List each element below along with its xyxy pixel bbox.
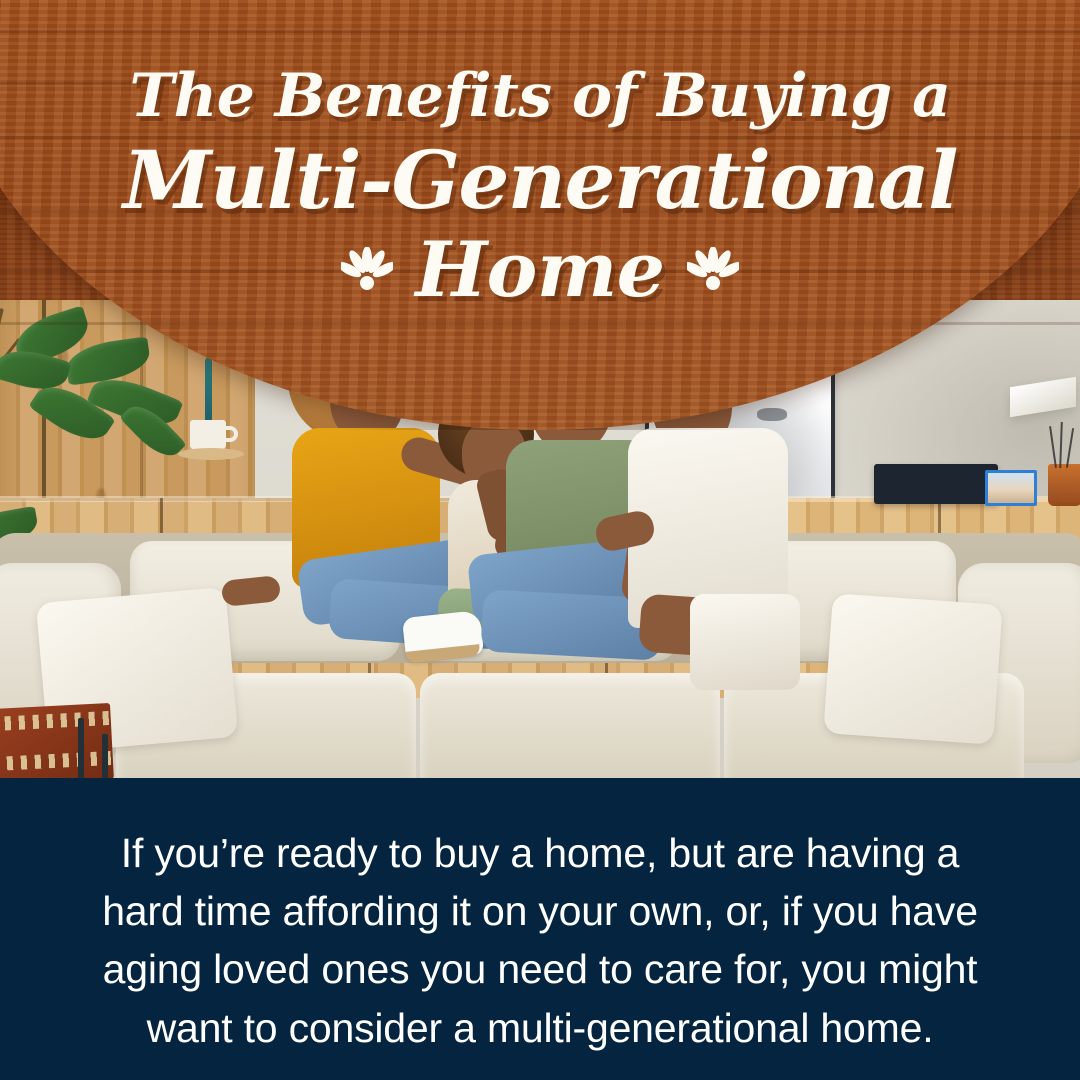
blue-picture-frame xyxy=(985,470,1037,506)
title-line-3: Home xyxy=(415,232,664,308)
title-block: The Benefits of Buying a Multi-Generatio… xyxy=(0,0,1080,430)
magazine-rack xyxy=(0,703,114,778)
title-line-3-row: Home xyxy=(341,232,738,308)
title-line-2: Multi-Generational xyxy=(123,140,957,220)
floral-ornament-left-icon xyxy=(341,247,393,293)
infographic-poster: The Benefits of Buying a Multi-Generatio… xyxy=(0,0,1080,1080)
throw-pillow xyxy=(823,593,1002,745)
body-paragraph: If you’re ready to buy a home, but are h… xyxy=(85,824,995,1057)
header-banner: The Benefits of Buying a Multi-Generatio… xyxy=(0,0,1080,430)
speaker xyxy=(874,464,998,504)
amber-vase xyxy=(1048,464,1080,506)
floral-ornament-right-icon xyxy=(687,247,739,293)
body-text-panel: If you’re ready to buy a home, but are h… xyxy=(0,778,1080,1080)
title-line-1: The Benefits of Buying a xyxy=(129,66,950,126)
